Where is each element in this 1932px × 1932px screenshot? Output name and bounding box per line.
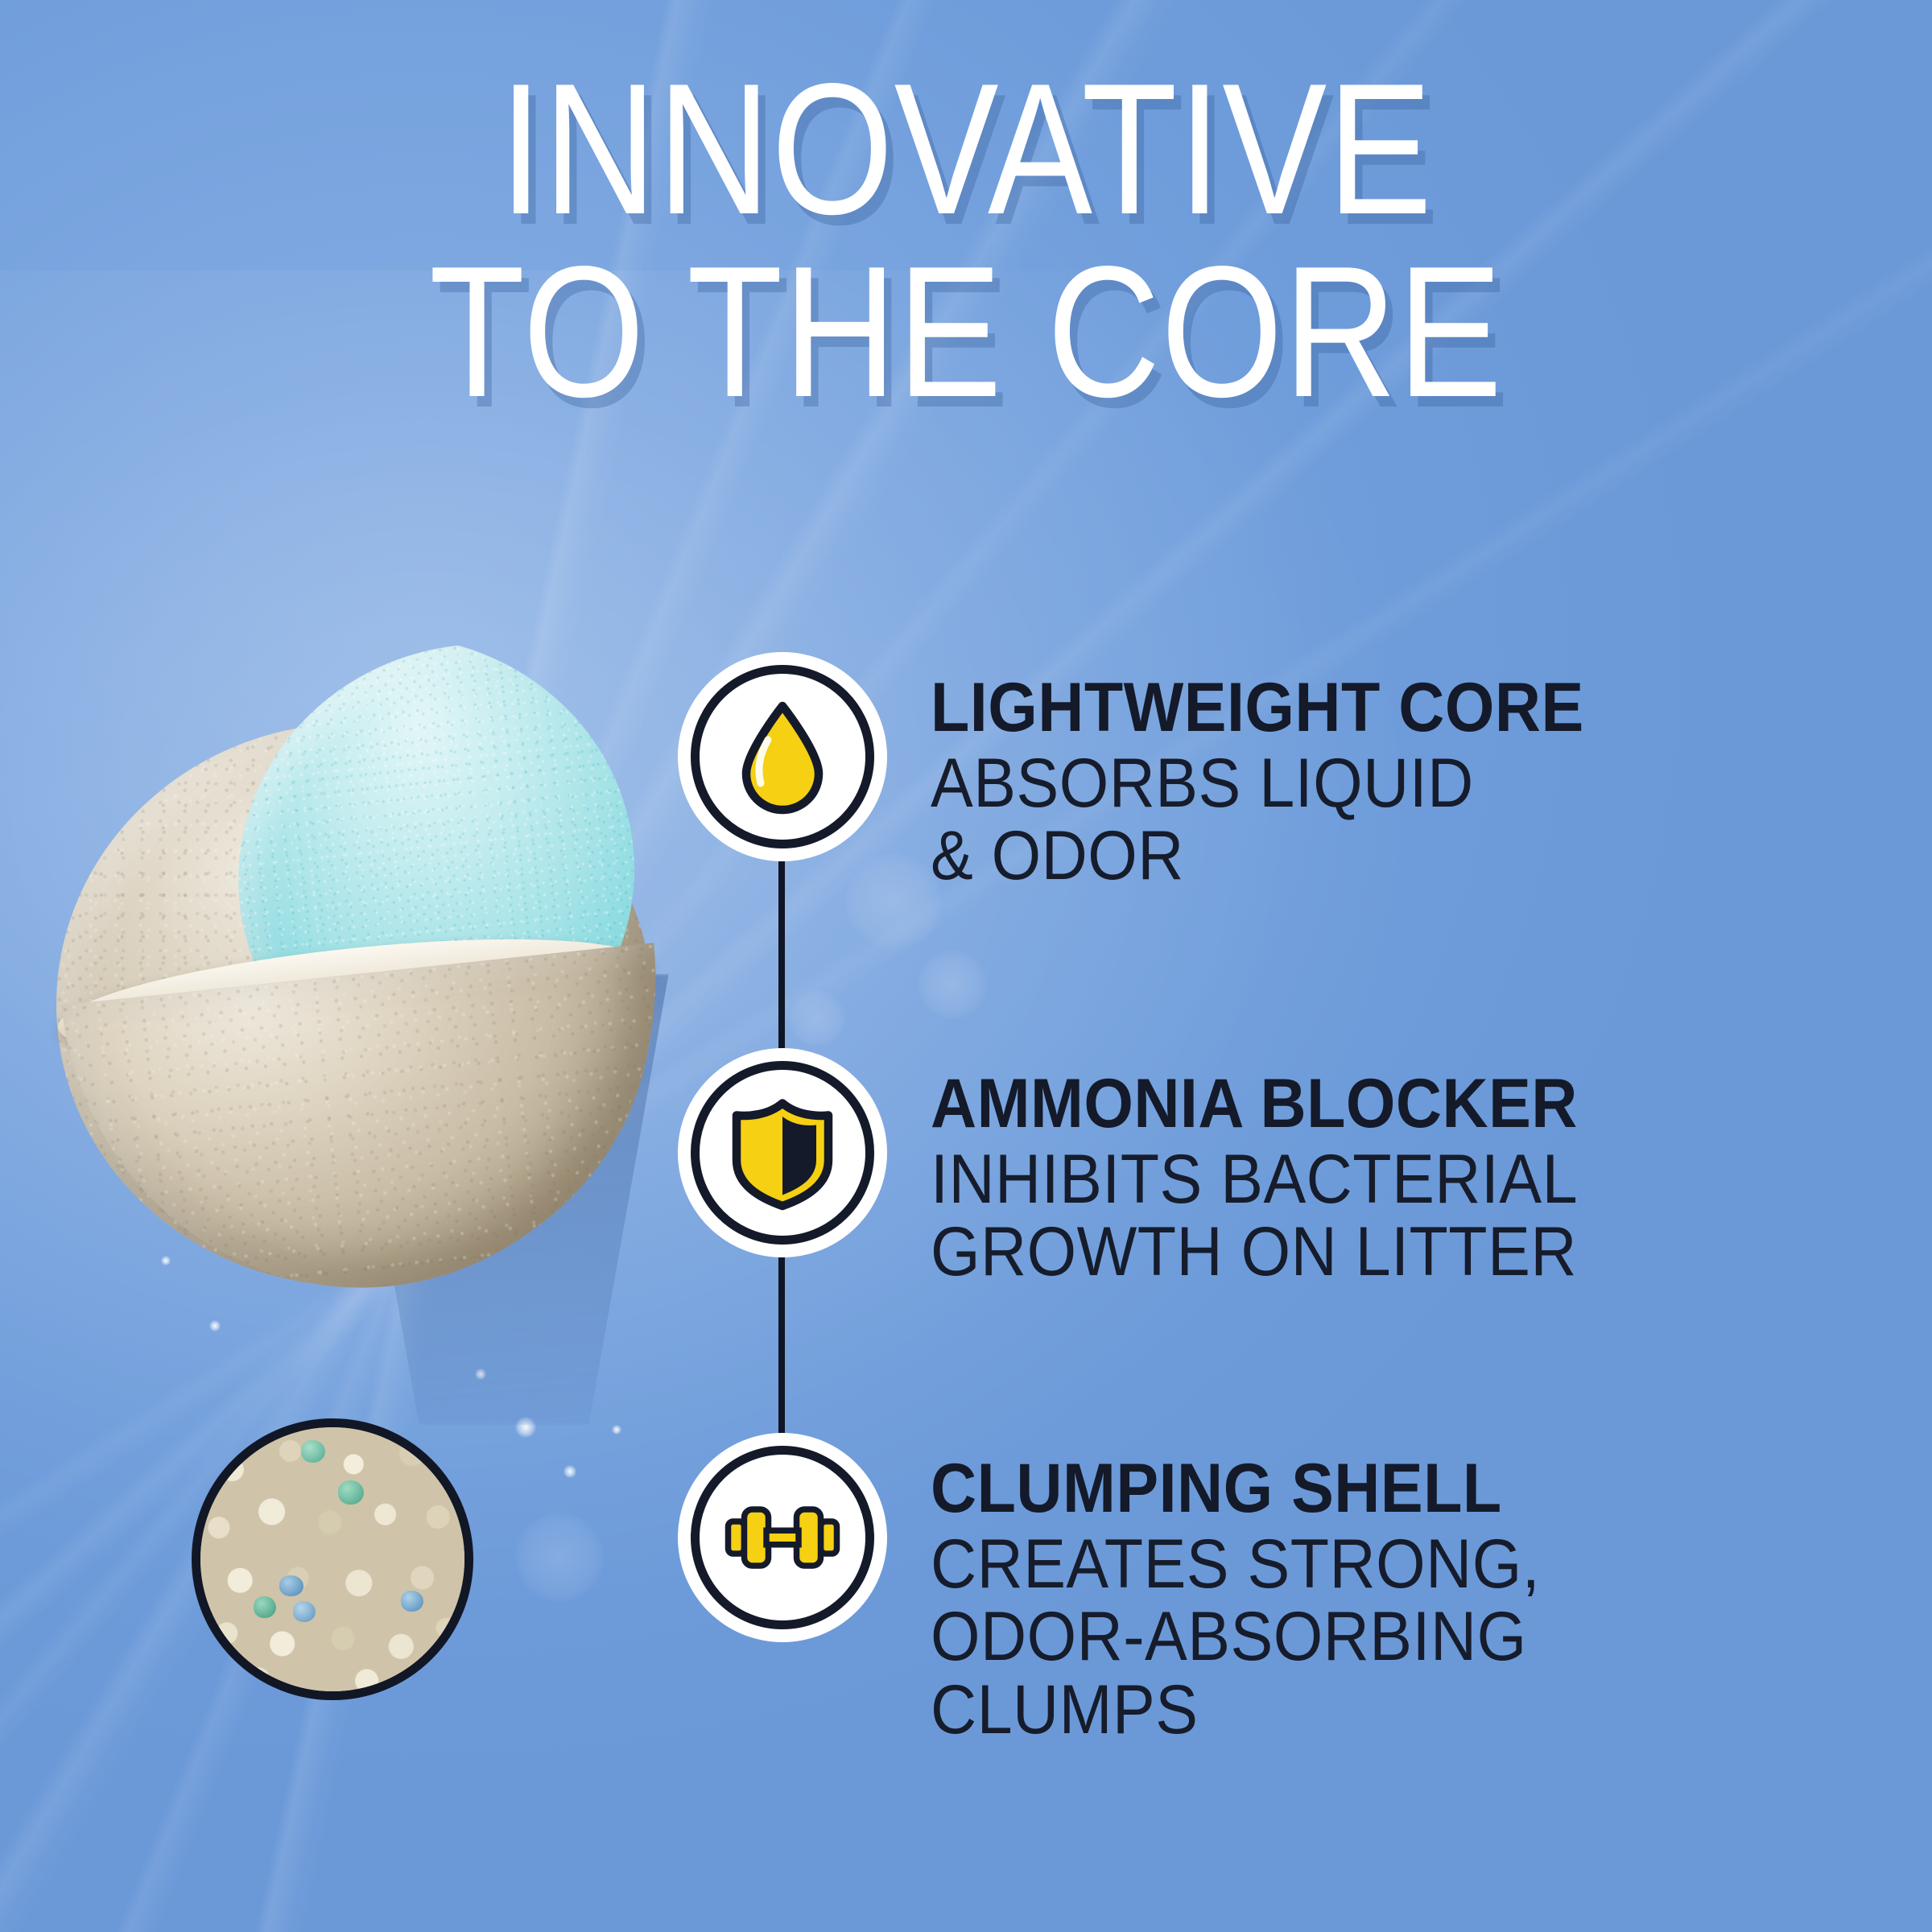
feature-body: CREATES STRONG, ODOR-ABSORBING CLUMPS [931, 1528, 1540, 1746]
dumbbell-icon-badge [691, 1446, 874, 1629]
colored-granule [338, 1480, 364, 1505]
shield-icon [722, 1092, 843, 1213]
feature-body-line: & ODOR [931, 819, 1584, 892]
dumbbell-icon [722, 1477, 843, 1598]
feature-lightweight-core: LIGHTWEIGHT CORE ABSORBS LIQUID & ODOR [691, 665, 1641, 893]
feature-text-block: AMMONIA BLOCKER INHIBITS BACTERIAL GROWT… [931, 1061, 1634, 1289]
feature-body-line: ODOR-ABSORBING [931, 1600, 1540, 1673]
feature-body-line: CREATES STRONG, [931, 1528, 1540, 1600]
litter-granules-circle [192, 1418, 473, 1700]
droplet-icon-badge [691, 665, 874, 848]
feature-heading: LIGHTWEIGHT CORE [931, 673, 1584, 742]
feature-heading: CLUMPING SHELL [931, 1454, 1540, 1523]
feature-body-line: ABSORBS LIQUID [931, 747, 1584, 819]
colored-granule [254, 1596, 276, 1618]
droplet-icon [722, 696, 843, 817]
colored-granule [279, 1575, 303, 1596]
granules-fill [200, 1427, 464, 1691]
feature-clumping-shell: CLUMPING SHELL CREATES STRONG, ODOR-ABSO… [691, 1446, 1593, 1746]
feature-body: INHIBITS BACTERIAL GROWTH ON LITTER [931, 1143, 1578, 1289]
product-sphere-illustration [48, 628, 773, 1288]
feature-body: ABSORBS LIQUID & ODOR [931, 747, 1584, 893]
feature-body-line: INHIBITS BACTERIAL [931, 1143, 1578, 1216]
feature-body-line: GROWTH ON LITTER [931, 1216, 1578, 1288]
feature-text-block: CLUMPING SHELL CREATES STRONG, ODOR-ABSO… [931, 1446, 1593, 1746]
feature-text-block: LIGHTWEIGHT CORE ABSORBS LIQUID & ODOR [931, 665, 1641, 893]
shield-icon-badge [691, 1061, 874, 1245]
colored-granule [293, 1601, 316, 1622]
infographic-canvas: INNOVATIVE TO THE CORE [0, 0, 1932, 1932]
feature-body-line: CLUMPS [931, 1674, 1540, 1746]
feature-ammonia-blocker: AMMONIA BLOCKER INHIBITS BACTERIAL GROWT… [691, 1061, 1634, 1289]
colored-granule [301, 1440, 325, 1463]
feature-heading: AMMONIA BLOCKER [931, 1069, 1578, 1138]
